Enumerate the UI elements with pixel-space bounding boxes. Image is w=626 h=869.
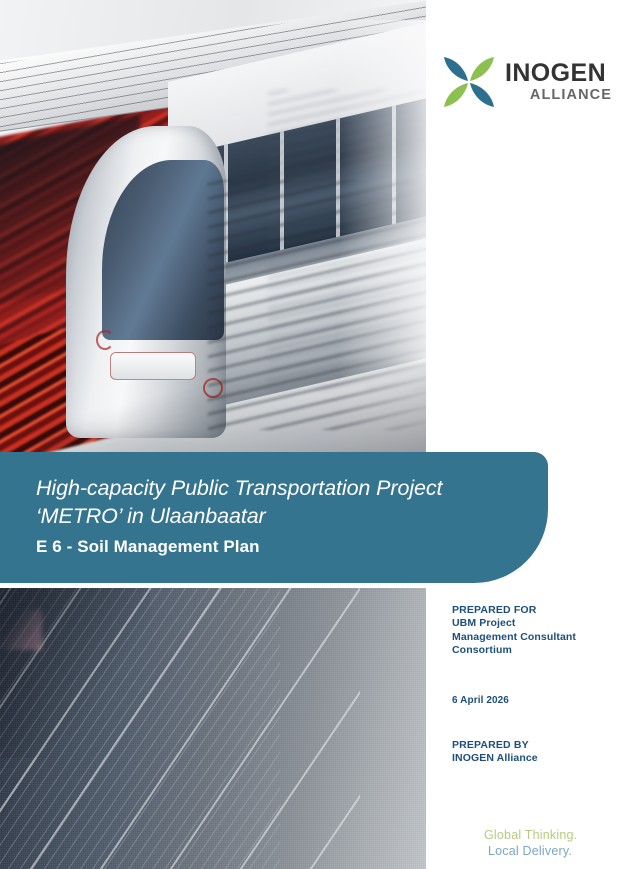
document-date: 6 April 2026: [452, 694, 616, 707]
brand-tagline: Global Thinking. Local Delivery.: [470, 827, 600, 859]
inogen-alliance-logo: INOGEN ALLIANCE: [441, 54, 611, 116]
prepared-by-label: PREPARED BY: [452, 739, 616, 752]
logo-name: INOGEN: [505, 60, 613, 87]
title-banner: High-capacity Public Transportation Proj…: [0, 452, 548, 583]
inogen-four-petal-mark-icon: [441, 54, 497, 110]
train-ground-shadow: [40, 362, 426, 452]
prepared-for-label: PREPARED FOR: [452, 604, 616, 617]
cover-metadata: PREPARED FOR UBM Project Management Cons…: [452, 604, 616, 766]
tagline-line-2: Local Delivery.: [470, 843, 600, 859]
prepared-by-value: INOGEN Alliance: [452, 752, 616, 765]
logo-wordmark: INOGEN ALLIANCE: [505, 60, 613, 103]
cover-page: High-capacity Public Transportation Proj…: [0, 0, 626, 869]
motion-texture: [0, 588, 426, 869]
prepared-by-group: PREPARED BY INOGEN Alliance: [452, 739, 616, 766]
logo-subtitle: ALLIANCE: [505, 87, 613, 103]
train-front-marking-left: [96, 330, 114, 350]
prepared-for-value: UBM Project Management Consultant Consor…: [452, 617, 616, 657]
document-subtitle: E 6 - Soil Management Plan: [36, 537, 548, 557]
document-title: High-capacity Public Transportation Proj…: [36, 474, 548, 530]
motion-blur-abstract: [0, 588, 426, 869]
tagline-line-1: Global Thinking.: [470, 827, 600, 843]
metro-train-illustration: [0, 0, 426, 452]
